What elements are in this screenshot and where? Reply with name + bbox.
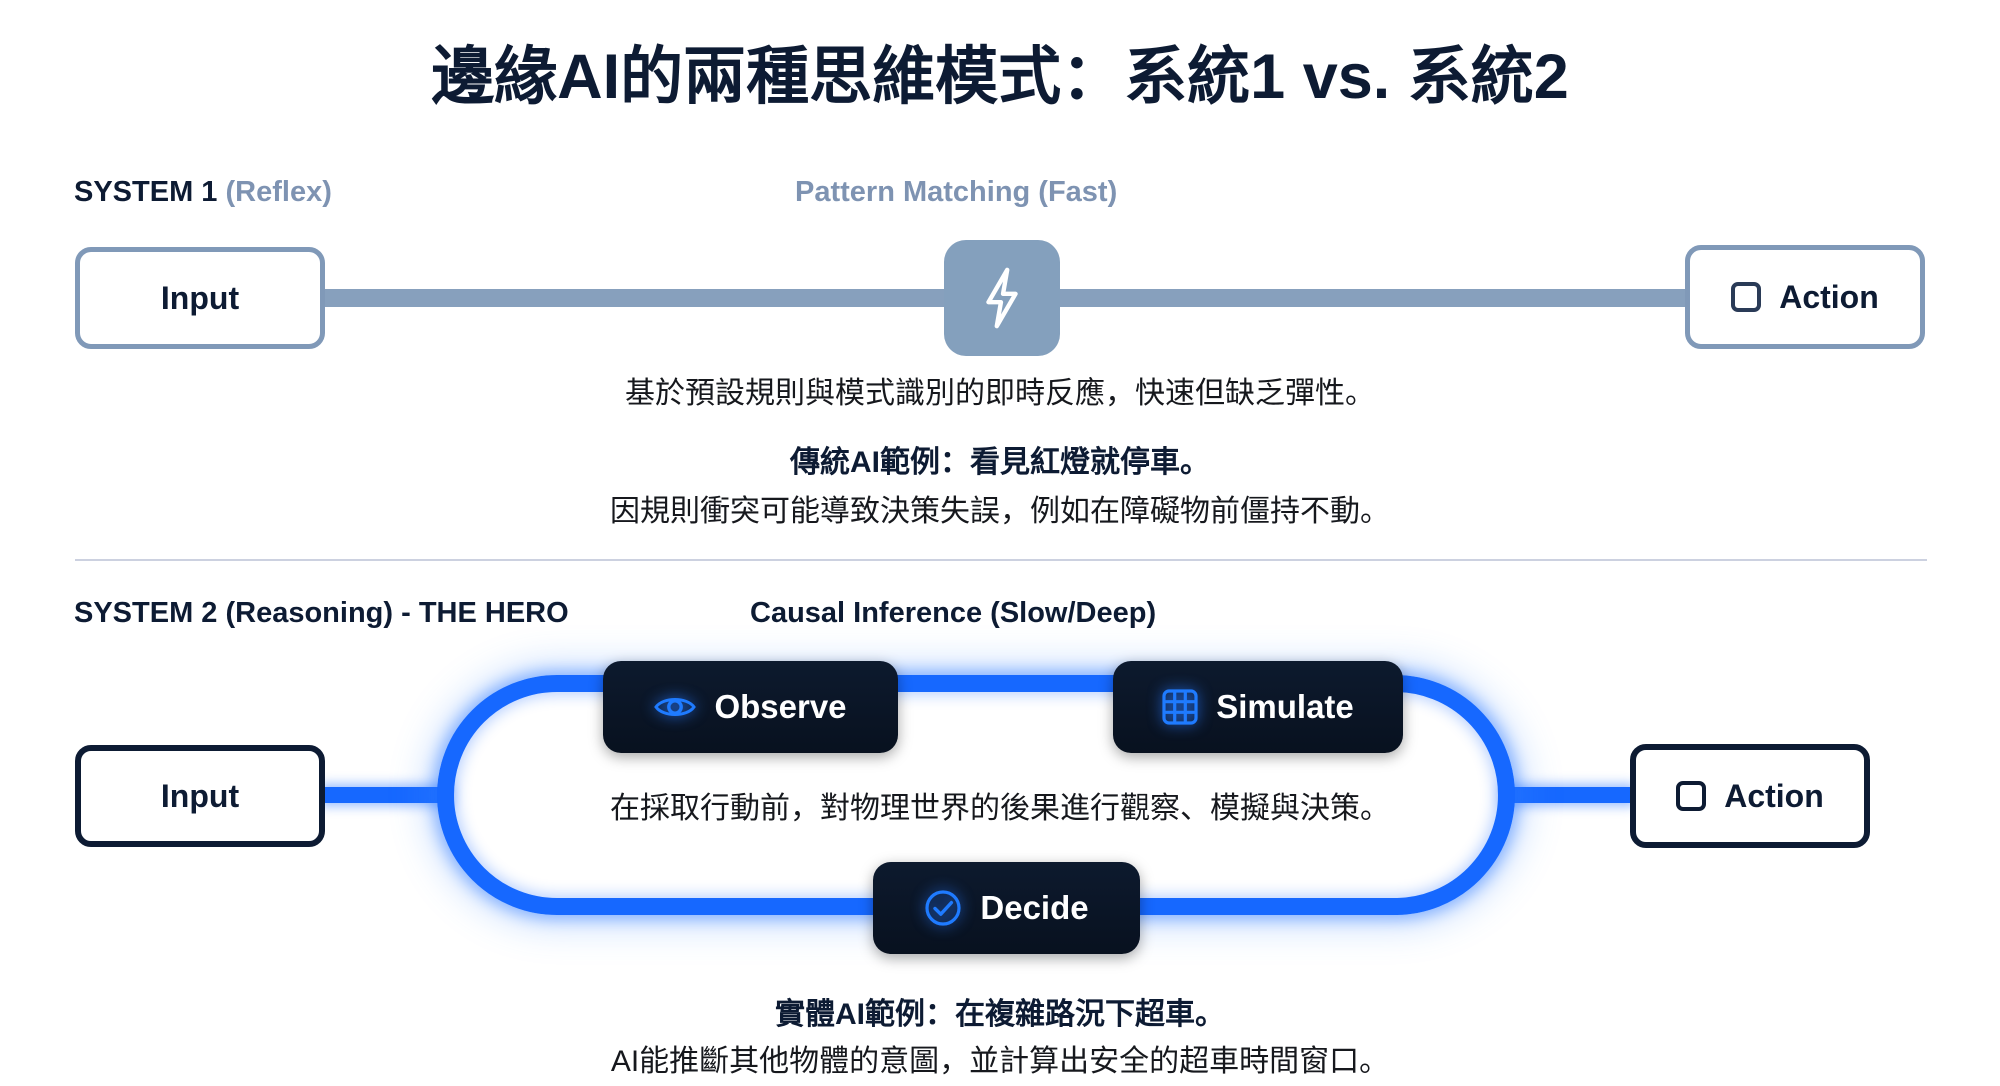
system2-step-simulate[interactable]: Simulate bbox=[1113, 661, 1403, 753]
system1-mid-label: Pattern Matching (Fast) bbox=[795, 176, 1117, 209]
system2-step-observe[interactable]: Observe bbox=[603, 661, 898, 753]
system1-input-node[interactable]: Input bbox=[75, 247, 325, 349]
grid-icon bbox=[1162, 689, 1198, 725]
check-circle-icon bbox=[924, 889, 962, 927]
system2-step-decide[interactable]: Decide bbox=[873, 862, 1140, 954]
system1-action-node[interactable]: Action bbox=[1685, 245, 1925, 349]
system1-heading: SYSTEM 1 (Reflex) bbox=[74, 176, 332, 209]
system1-example-title: 傳統AI範例：看見紅燈就停車。 bbox=[0, 437, 2000, 481]
system2-mid-label: Causal Inference (Slow/Deep) bbox=[750, 597, 1156, 630]
system2-step-observe-label: Observe bbox=[714, 688, 846, 726]
section-divider bbox=[75, 559, 1927, 561]
system2-step-simulate-label: Simulate bbox=[1216, 688, 1354, 726]
zap-icon bbox=[944, 240, 1060, 356]
system2-input-label: Input bbox=[161, 778, 239, 815]
system1-input-label: Input bbox=[161, 280, 239, 317]
system1-heading-sub: (Reflex) bbox=[226, 176, 332, 208]
page-title: 邊緣AI的兩種思維模式：系統1 vs. 系統2 bbox=[0, 26, 2000, 117]
system2-input-node[interactable]: Input bbox=[75, 745, 325, 847]
square-icon bbox=[1676, 781, 1706, 811]
system1-description: 基於預設規則與模式識別的即時反應，快速但缺乏彈性。 bbox=[0, 368, 2000, 412]
system2-step-decide-label: Decide bbox=[980, 889, 1088, 927]
system1-action-label: Action bbox=[1779, 279, 1879, 316]
system2-action-label: Action bbox=[1724, 778, 1824, 815]
eye-icon bbox=[654, 692, 696, 722]
system2-heading: SYSTEM 2 (Reasoning) - THE HERO bbox=[74, 597, 569, 630]
system1-heading-main: SYSTEM 1 bbox=[74, 176, 217, 208]
system2-example-note: AI能推斷其他物體的意圖，並計算出安全的超車時間窗口。 bbox=[0, 1036, 2000, 1080]
system2-action-node[interactable]: Action bbox=[1630, 744, 1870, 848]
system1-example-note: 因規則衝突可能導致決策失誤，例如在障礙物前僵持不動。 bbox=[0, 486, 2000, 530]
square-icon bbox=[1731, 282, 1761, 312]
system2-example-title: 實體AI範例：在複雜路況下超車。 bbox=[0, 989, 2000, 1033]
